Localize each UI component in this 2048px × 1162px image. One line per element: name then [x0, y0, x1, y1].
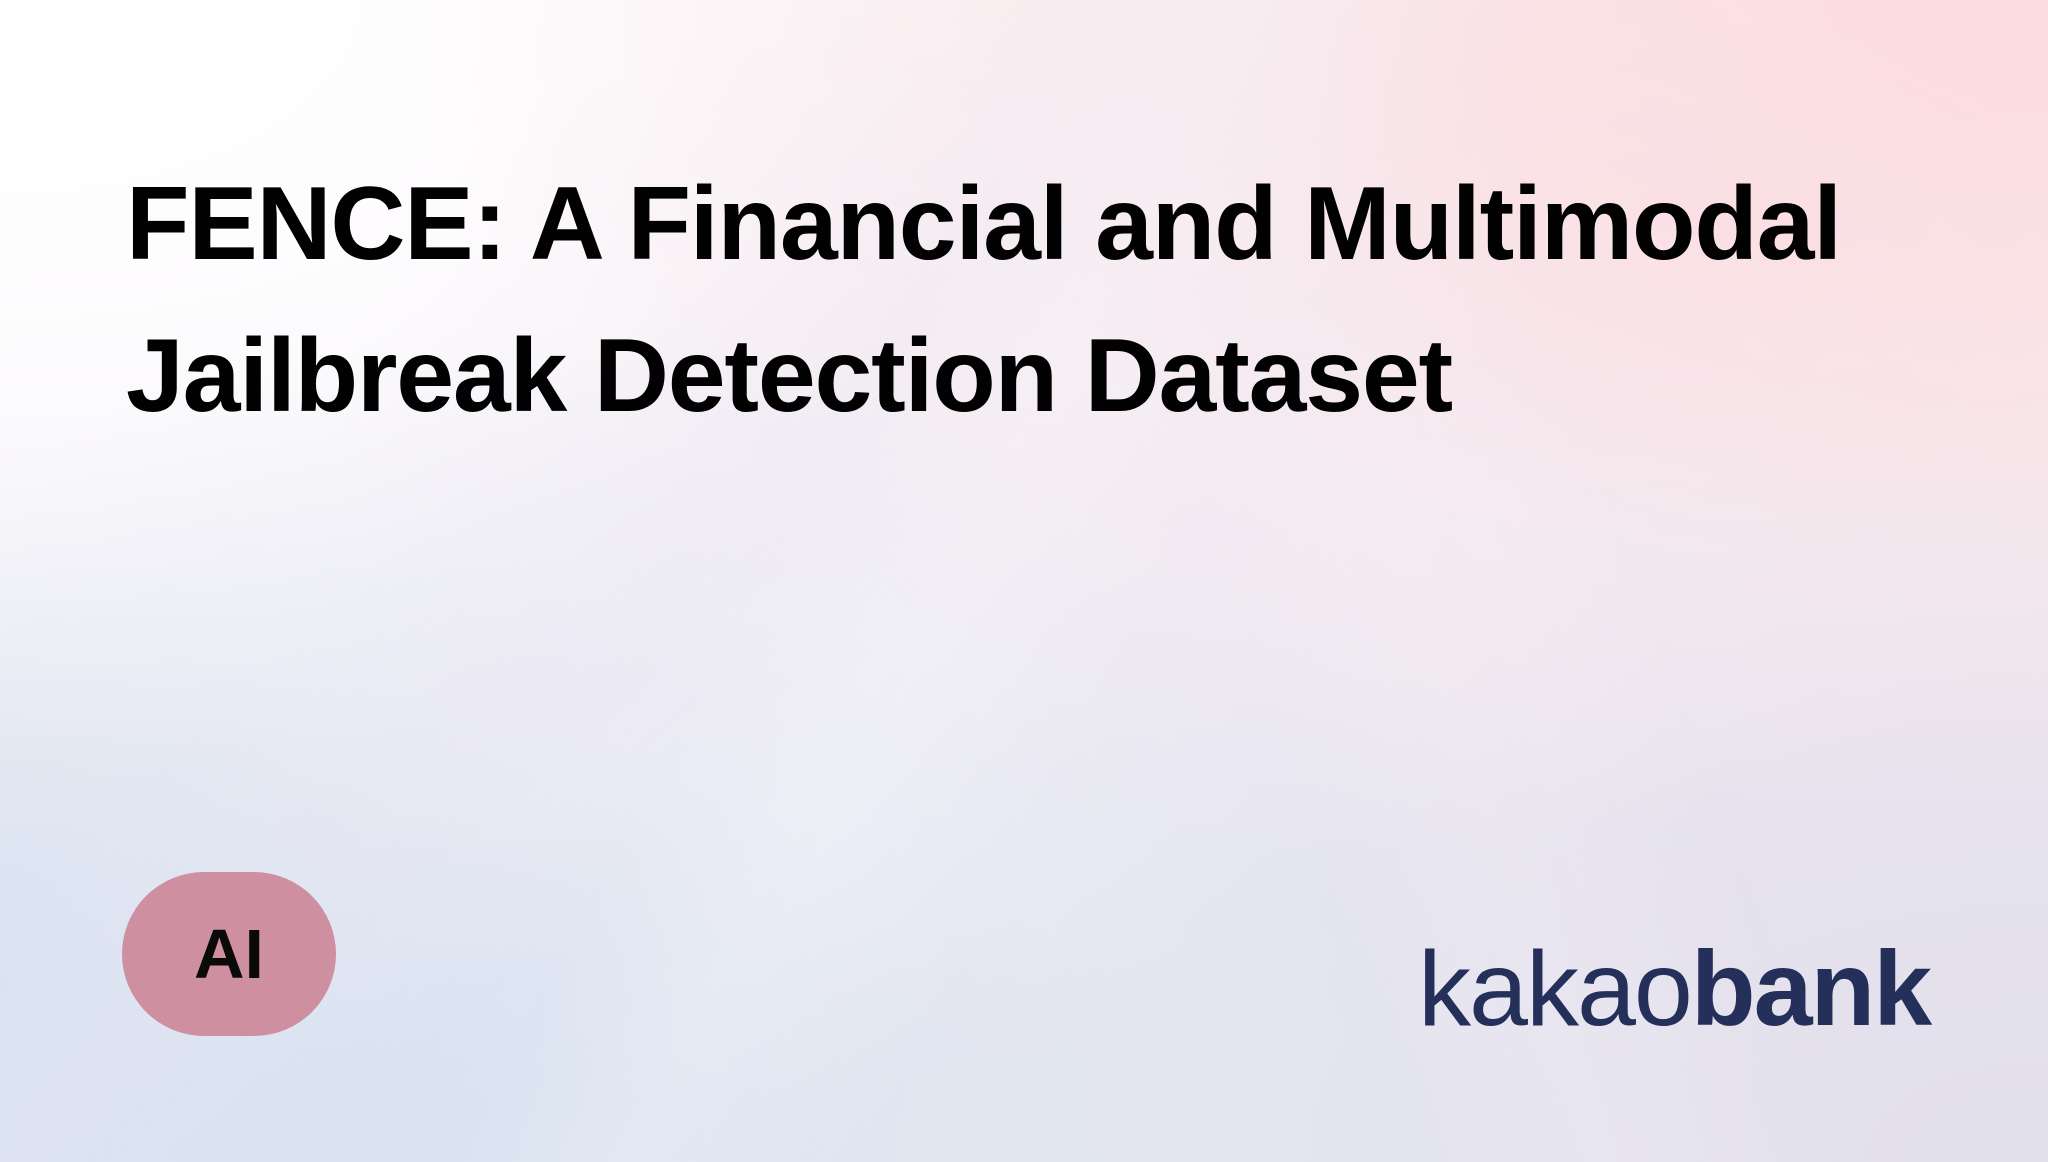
kakaobank-logo-bank-text: bank	[1691, 936, 1930, 1042]
ai-badge: AI	[122, 872, 336, 1036]
kakaobank-logo: kakao bank	[1418, 936, 1930, 1042]
ai-badge-label: AI	[194, 919, 264, 989]
kakaobank-logo-kakao-text: kakao	[1418, 936, 1691, 1042]
slide-canvas: FENCE: A Financial and Multimodal Jailbr…	[0, 0, 2048, 1162]
page-title: FENCE: A Financial and Multimodal Jailbr…	[126, 148, 1886, 452]
